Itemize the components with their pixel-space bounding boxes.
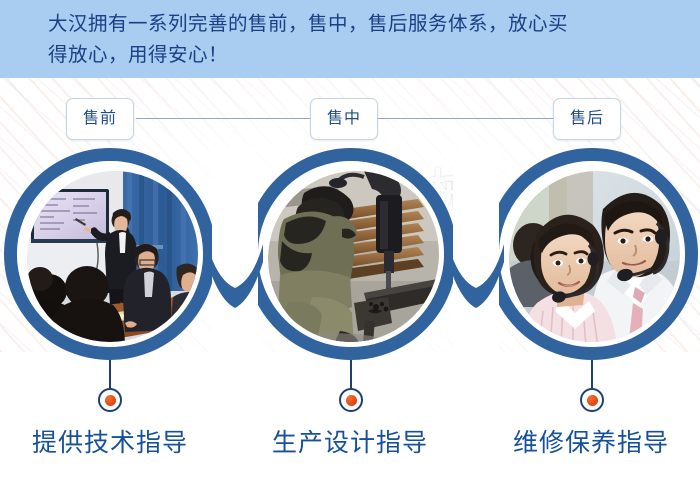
stage-tag-during-sales[interactable]: 售中	[310, 98, 378, 140]
stage-caption-3: 维修保养指导	[481, 427, 700, 459]
stage-tag-pre-sales[interactable]: 售前	[66, 98, 134, 140]
stage-node-1	[4, 148, 216, 360]
workshop-machining-illustration	[268, 171, 444, 347]
stage-tag-after-sales[interactable]: 售后	[553, 98, 621, 140]
marker-stem-3	[591, 360, 593, 390]
ring-gap-2	[258, 161, 444, 347]
header-banner: 大汉拥有一系列完善的售前，售中，售后服务体系，放心买 得放心，用得安心！	[0, 0, 700, 78]
customer-service-photo	[509, 171, 685, 347]
stage-node-2	[245, 148, 457, 360]
ring-gap-1	[17, 161, 203, 347]
marker-inner-dot-2	[346, 395, 357, 406]
ring-join-wave-2	[446, 148, 506, 360]
service-system-infographic: 大汉拥有一系列完善的售前，售中，售后服务体系，放心买 得放心，用得安心！ 机械 …	[0, 0, 700, 479]
ring-gap-3	[499, 161, 685, 347]
marker-dot-3	[580, 388, 604, 412]
ring-join-wave-1	[205, 148, 265, 360]
marker-stem-1	[109, 360, 111, 390]
training-presentation-photo	[27, 171, 203, 347]
marker-stem-2	[350, 360, 352, 390]
header-title: 大汉拥有一系列完善的售前，售中，售后服务体系，放心买 得放心，用得安心！	[48, 9, 668, 71]
stage-caption-2: 生产设计指导	[240, 427, 460, 459]
marker-dot-1	[98, 388, 122, 412]
workshop-machining-photo	[268, 171, 444, 347]
connector-rail-1	[136, 118, 312, 119]
marker-dot-2	[339, 388, 363, 412]
training-presentation-illustration	[27, 171, 203, 347]
stage-node-3	[486, 148, 698, 360]
stage-caption-1: 提供技术指导	[0, 427, 220, 459]
connector-rail-2	[378, 118, 554, 119]
marker-inner-dot-3	[587, 395, 598, 406]
customer-service-illustration	[509, 171, 685, 347]
marker-inner-dot-1	[105, 395, 116, 406]
